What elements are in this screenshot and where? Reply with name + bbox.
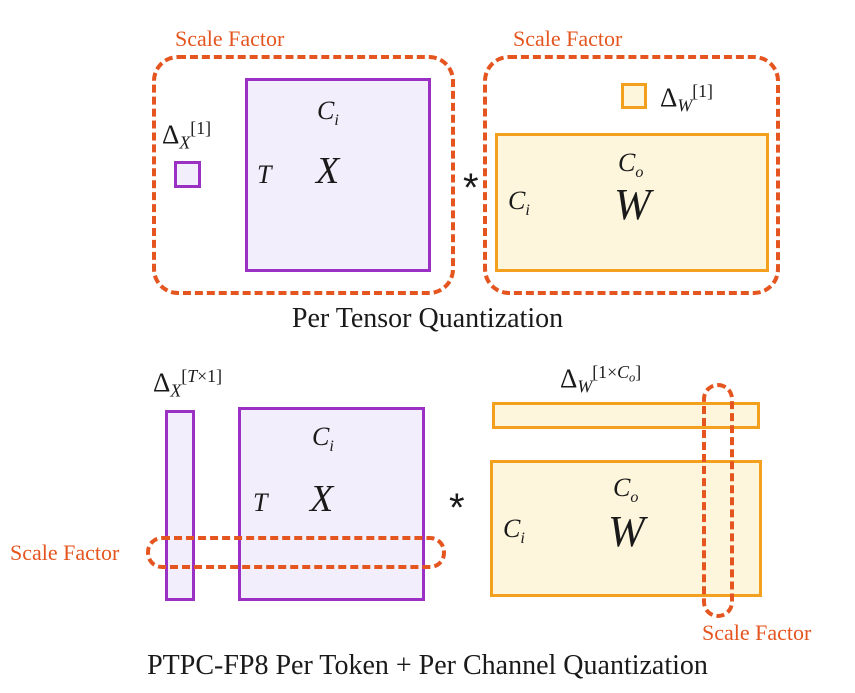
bottom-activation-scale-symbol: ΔX[T×1]: [153, 368, 222, 400]
top-activation-scale-symbol: ΔX[1]: [162, 120, 211, 152]
dim-letter: C: [503, 514, 520, 543]
dim-subscript: i: [334, 112, 338, 129]
delta-subscript: X: [179, 133, 190, 153]
dim-subscript: o: [635, 164, 643, 181]
dim-subscript: i: [329, 438, 333, 455]
top-activation-col-dim: Ci: [317, 98, 339, 129]
delta-glyph: Δ: [560, 363, 577, 393]
bottom-weight-scale-symbol: ΔW[1×Co]: [560, 364, 641, 396]
top-weight-scale-symbol: ΔW[1]: [660, 83, 713, 115]
top-multiply-symbol: *: [463, 168, 479, 208]
sup-rows: 1: [598, 362, 607, 382]
bottom-panel-caption: PTPC-FP8 Per Token + Per Channel Quantiz…: [0, 652, 855, 680]
dim-subscript: o: [630, 489, 638, 506]
top-activation-row-dim: T: [257, 162, 271, 188]
dim-subscript: i: [520, 530, 524, 547]
dim-letter: C: [508, 186, 525, 215]
delta-superscript: [T×1]: [181, 366, 222, 386]
bottom-left-scale-factor-label: Scale Factor: [10, 542, 119, 564]
top-activation-scale-box: [174, 161, 201, 188]
bottom-weight-row-dim: Ci: [503, 516, 525, 547]
sup-rows: T: [187, 366, 197, 386]
delta-glyph: Δ: [660, 82, 677, 112]
delta-glyph: Δ: [153, 367, 170, 397]
bottom-weight-col-dim: Co: [613, 475, 638, 506]
bottom-activation-row-dim: T: [253, 490, 267, 516]
bottom-weight-tensor-name: W: [608, 510, 645, 554]
delta-subscript: W: [577, 377, 592, 397]
bottom-right-scale-factor-label: Scale Factor: [702, 622, 811, 644]
figure-canvas: Scale Factor ΔX[1] Ci T X * Scale Factor…: [0, 0, 855, 693]
dim-letter: C: [317, 96, 334, 125]
bottom-weight-scale-region: [702, 383, 734, 618]
top-weight-scale-box: [621, 83, 647, 109]
dim-letter: C: [613, 473, 630, 502]
dim-letter: C: [312, 422, 329, 451]
sup-cols: C: [617, 362, 629, 382]
top-panel-caption: Per Tensor Quantization: [0, 305, 855, 333]
bottom-activation-scale-region: [146, 536, 446, 569]
top-weight-tensor-name: W: [614, 183, 651, 227]
sup-times: ×: [197, 366, 207, 386]
sup-cols: 1: [207, 366, 216, 386]
bottom-activation-scale-bar: [165, 410, 195, 601]
delta-subscript: W: [677, 96, 692, 116]
bottom-activation-col-dim: Ci: [312, 424, 334, 455]
top-right-scale-factor-label: Scale Factor: [513, 28, 622, 50]
delta-superscript: [1×Co]: [592, 362, 641, 382]
bottom-activation-tensor-name: X: [310, 480, 333, 518]
top-weight-col-dim: Co: [618, 150, 643, 181]
top-left-scale-factor-label: Scale Factor: [175, 28, 284, 50]
delta-superscript: [1]: [190, 118, 211, 138]
delta-subscript: X: [170, 381, 181, 401]
dim-letter: C: [618, 148, 635, 177]
dim-subscript: i: [525, 202, 529, 219]
sup-close: ]: [216, 366, 222, 386]
delta-superscript: [1]: [692, 81, 713, 101]
sup-close: ]: [635, 362, 641, 382]
top-weight-row-dim: Ci: [508, 188, 530, 219]
bottom-multiply-symbol: *: [449, 488, 465, 528]
sup-times: ×: [607, 362, 617, 382]
delta-glyph: Δ: [162, 119, 179, 149]
top-activation-tensor-name: X: [316, 152, 339, 190]
